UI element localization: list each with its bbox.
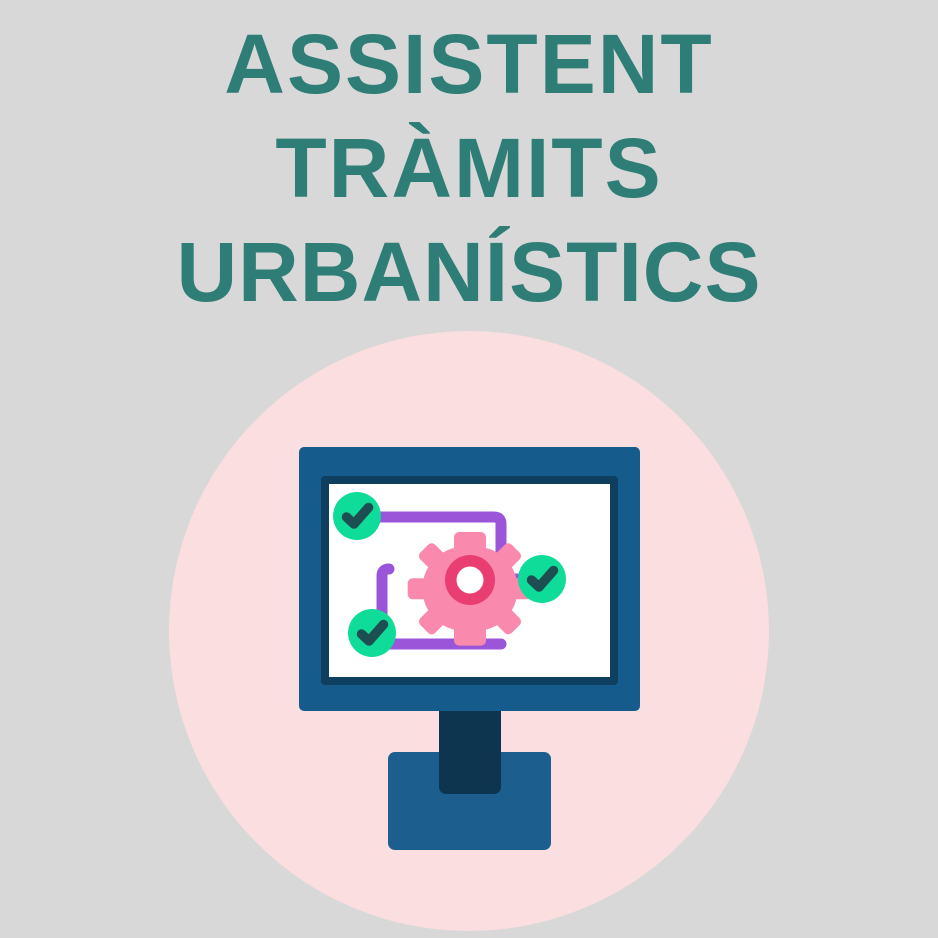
monitor-neck <box>439 711 501 794</box>
check-circle-bottom-left-icon <box>348 609 396 657</box>
title-line-2: TRÀMITS <box>0 116 938 220</box>
workflow-diagram <box>329 484 610 677</box>
gear-icon <box>408 532 533 646</box>
poster-canvas: ASSISTENT TRÀMITS URBANÍSTICS <box>0 0 938 938</box>
check-circle-top-left-icon <box>333 492 381 540</box>
title-line-1: ASSISTENT <box>0 12 938 116</box>
title-line-3: URBANÍSTICS <box>0 220 938 324</box>
monitor-illustration <box>299 447 640 938</box>
monitor-screen <box>329 484 610 677</box>
illustration <box>0 322 938 938</box>
page-title: ASSISTENT TRÀMITS URBANÍSTICS <box>0 12 938 324</box>
check-circle-right-icon <box>518 555 566 603</box>
monitor-body <box>299 447 640 711</box>
gear-hub <box>457 567 484 594</box>
